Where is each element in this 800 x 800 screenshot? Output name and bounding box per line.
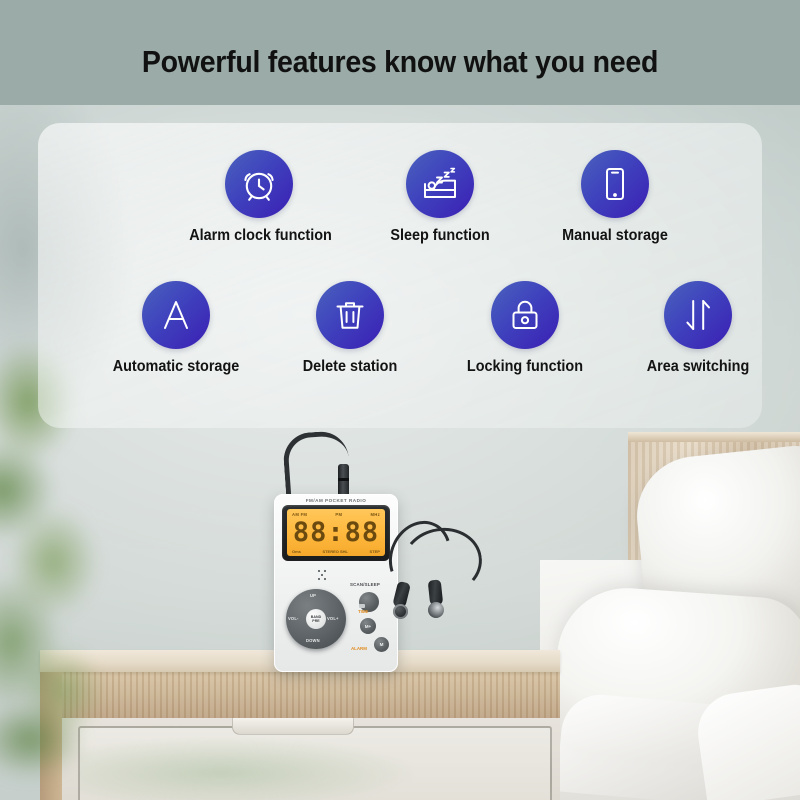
feature-area-switching[interactable]: Area switching — [623, 281, 773, 376]
feature-label: Area switching — [628, 358, 768, 376]
trash-can-icon — [330, 295, 370, 335]
memory-button[interactable]: M — [374, 637, 389, 652]
lcd-stereo-indicator: STEREO SHL — [322, 549, 348, 554]
lcd-bottom-indicators: Oms STEREO SHL STEP — [292, 549, 380, 554]
dpad-up-label[interactable]: UP — [310, 593, 316, 598]
feature-automatic-storage[interactable]: Automatic storage — [101, 281, 251, 376]
lcd-oms-indicator: Oms — [292, 549, 301, 554]
dpad-vol-up-label[interactable]: VOL+ — [327, 616, 339, 621]
dpad-vol-down-label[interactable]: VOL- — [288, 616, 299, 621]
time-label: TIME — [358, 609, 369, 614]
feature-label: Alarm clock function — [189, 227, 329, 245]
feature-icon-bubble — [491, 281, 559, 349]
nightstand-drawer — [78, 726, 552, 800]
feature-icon-bubble — [225, 150, 293, 218]
feature-icon-bubble — [142, 281, 210, 349]
earbud-left-tip — [393, 604, 408, 619]
earbud-right-tip — [428, 602, 444, 618]
feature-alarm-clock-function[interactable]: Alarm clock function — [184, 150, 334, 245]
lcd-display: AM FM PM MHz 88:88 Oms STEREO SHL STEP — [287, 509, 385, 556]
feature-manual-storage[interactable]: Manual storage — [540, 150, 690, 245]
feature-label: Automatic storage — [106, 358, 246, 376]
sleep-bed-icon — [419, 164, 461, 204]
feature-icon-bubble — [406, 150, 474, 218]
product-feature-banner: Powerful features know what you need — [0, 0, 800, 800]
feature-sleep-function[interactable]: Sleep function — [365, 150, 515, 245]
up-down-arrows-icon — [678, 295, 718, 335]
jack-band — [338, 478, 349, 481]
feature-label: Delete station — [280, 358, 420, 376]
houseplant-lower — [0, 690, 120, 800]
alarm-clock-icon — [239, 164, 279, 204]
header-band: Powerful features know what you need — [0, 0, 800, 105]
feature-icon-bubble — [581, 150, 649, 218]
memory-plus-button[interactable]: M+ — [360, 618, 376, 634]
preset-label: PRE — [312, 619, 319, 623]
pocket-radio-device: FM/AM POCKET RADIO AM FM PM MHz 88:88 Om… — [262, 432, 502, 672]
radio-brand-text: FM/AM POCKET RADIO — [274, 498, 398, 503]
features-card: Alarm clock function — [38, 123, 762, 428]
features-grid: Alarm clock function — [38, 123, 762, 428]
lcd-value: 88:88 — [287, 519, 385, 546]
lcd-step-indicator: STEP — [370, 549, 380, 554]
feature-label: Manual storage — [545, 227, 685, 245]
dpad-down-label[interactable]: DOWN — [306, 638, 320, 643]
feature-label: Locking function — [455, 358, 595, 376]
scan-sleep-label: SCAN/SLEEP — [350, 582, 380, 587]
smartphone-icon — [595, 164, 635, 204]
headboard-top-edge — [628, 432, 800, 442]
feature-locking-function[interactable]: Locking function — [450, 281, 600, 376]
padlock-icon — [505, 295, 545, 335]
alarm-label: ALARM — [351, 646, 367, 651]
letter-a-icon — [156, 295, 196, 335]
speaker-grille — [316, 568, 332, 584]
feature-label: Sleep function — [370, 227, 510, 245]
feature-icon-bubble — [664, 281, 732, 349]
page-title: Powerful features know what you need — [32, 44, 768, 80]
feature-icon-bubble — [316, 281, 384, 349]
drawer-handle — [232, 718, 354, 735]
feature-delete-station[interactable]: Delete station — [275, 281, 425, 376]
band-preset-button[interactable]: BAND PRE — [306, 609, 326, 629]
time-icon — [359, 604, 365, 608]
